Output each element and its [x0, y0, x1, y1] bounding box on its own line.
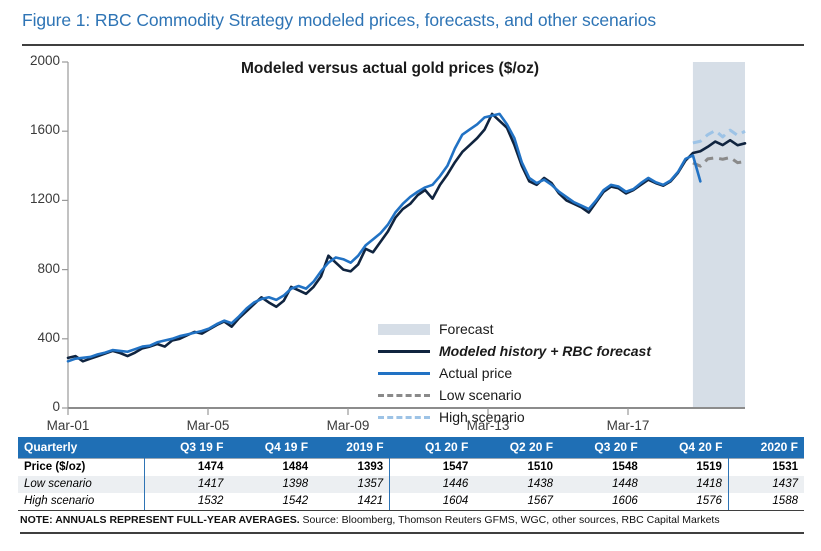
cell-high-q1-20: 1604: [390, 493, 475, 511]
forecast-table: Quarterly Q3 19 F Q4 19 F 2019 F Q1 20 F…: [18, 437, 804, 511]
cell-low-q3-20: 1448: [559, 476, 644, 493]
cell-price-q2-20: 1510: [474, 459, 559, 477]
actual-line-swatch: [378, 366, 430, 380]
row-label-price: Price ($/oz): [18, 459, 145, 477]
y-axis-tick-label: 800: [14, 261, 60, 276]
table-header-row: Quarterly Q3 19 F Q4 19 F 2019 F Q1 20 F…: [18, 437, 804, 459]
legend-item-low: Low scenario: [378, 384, 651, 406]
figure-title: Figure 1: RBC Commodity Strategy modeled…: [22, 10, 802, 31]
legend-item-modeled: Modeled history + RBC forecast: [378, 340, 651, 362]
chart-container: Modeled versus actual gold prices ($/oz)…: [0, 50, 821, 432]
footnote-divider: [20, 532, 804, 534]
cell-high-2019: 1421: [314, 493, 390, 511]
table-header-quarterly: Quarterly: [18, 437, 145, 459]
cell-low-q4-19: 1398: [229, 476, 314, 493]
cell-price-2020: 1531: [728, 459, 804, 477]
forecast-table-container: Quarterly Q3 19 F Q4 19 F 2019 F Q1 20 F…: [18, 437, 804, 511]
chart-legend: Forecast Modeled history + RBC forecast …: [378, 318, 651, 428]
cell-low-2020: 1437: [728, 476, 804, 493]
y-axis-tick-label: 2000: [14, 53, 60, 68]
footnote-note: NOTE: ANNUALS REPRESENT FULL-YEAR AVERAG…: [20, 514, 300, 526]
cell-high-q4-20: 1576: [644, 493, 729, 511]
title-divider: [22, 44, 804, 46]
table-header-2020: 2020 F: [728, 437, 804, 459]
table-header-2019: 2019 F: [314, 437, 390, 459]
cell-low-2019: 1357: [314, 476, 390, 493]
legend-label-forecast: Forecast: [439, 321, 493, 337]
cell-low-q1-20: 1446: [390, 476, 475, 493]
x-axis-tick-label: Mar-01: [28, 418, 108, 433]
cell-price-q3-20: 1548: [559, 459, 644, 477]
table-row: Low scenario 1417 1398 1357 1446 1438 14…: [18, 476, 804, 493]
figure-footnote: NOTE: ANNUALS REPRESENT FULL-YEAR AVERAG…: [20, 514, 804, 526]
cell-high-2020: 1588: [728, 493, 804, 511]
cell-high-q4-19: 1542: [229, 493, 314, 511]
x-axis-tick-label: Mar-09: [308, 418, 388, 433]
table-header-q1-20: Q1 20 F: [390, 437, 475, 459]
x-axis-tick-label: Mar-13: [448, 418, 528, 433]
cell-high-q2-20: 1567: [474, 493, 559, 511]
table-header-q4-19: Q4 19 F: [229, 437, 314, 459]
legend-item-forecast: Forecast: [378, 318, 651, 340]
modeled-line-swatch: [378, 344, 430, 358]
table-row: High scenario 1532 1542 1421 1604 1567 1…: [18, 493, 804, 511]
x-axis-tick-label: Mar-17: [588, 418, 668, 433]
cell-price-q1-20: 1547: [390, 459, 475, 477]
cell-price-q4-20: 1519: [644, 459, 729, 477]
cell-price-2019: 1393: [314, 459, 390, 477]
row-label-high-scenario: High scenario: [18, 493, 145, 511]
low-scenario-swatch: [378, 388, 430, 402]
footnote-source: Source: Bloomberg, Thomson Reuters GFMS,…: [300, 514, 720, 526]
table-header-q2-20: Q2 20 F: [474, 437, 559, 459]
x-axis-tick-label: Mar-05: [168, 418, 248, 433]
cell-price-q3-19: 1474: [145, 459, 230, 477]
y-axis-tick-label: 1600: [14, 122, 60, 137]
legend-label-modeled: Modeled history + RBC forecast: [439, 343, 651, 359]
y-axis-tick-label: 400: [14, 330, 60, 345]
table-row: Price ($/oz) 1474 1484 1393 1547 1510 15…: [18, 459, 804, 477]
legend-label-low: Low scenario: [439, 387, 522, 403]
row-label-low-scenario: Low scenario: [18, 476, 145, 493]
figure-page: Figure 1: RBC Commodity Strategy modeled…: [0, 0, 821, 551]
legend-item-actual: Actual price: [378, 362, 651, 384]
cell-high-q3-19: 1532: [145, 493, 230, 511]
forecast-band-swatch: [378, 322, 430, 336]
y-axis-tick-label: 1200: [14, 191, 60, 206]
table-header-q3-19: Q3 19 F: [145, 437, 230, 459]
cell-low-q2-20: 1438: [474, 476, 559, 493]
y-axis-tick-label: 0: [14, 399, 60, 414]
cell-high-q3-20: 1606: [559, 493, 644, 511]
cell-low-q3-19: 1417: [145, 476, 230, 493]
table-header-q3-20: Q3 20 F: [559, 437, 644, 459]
table-header-q4-20: Q4 20 F: [644, 437, 729, 459]
cell-low-q4-20: 1418: [644, 476, 729, 493]
legend-label-actual: Actual price: [439, 365, 512, 381]
cell-price-q4-19: 1484: [229, 459, 314, 477]
